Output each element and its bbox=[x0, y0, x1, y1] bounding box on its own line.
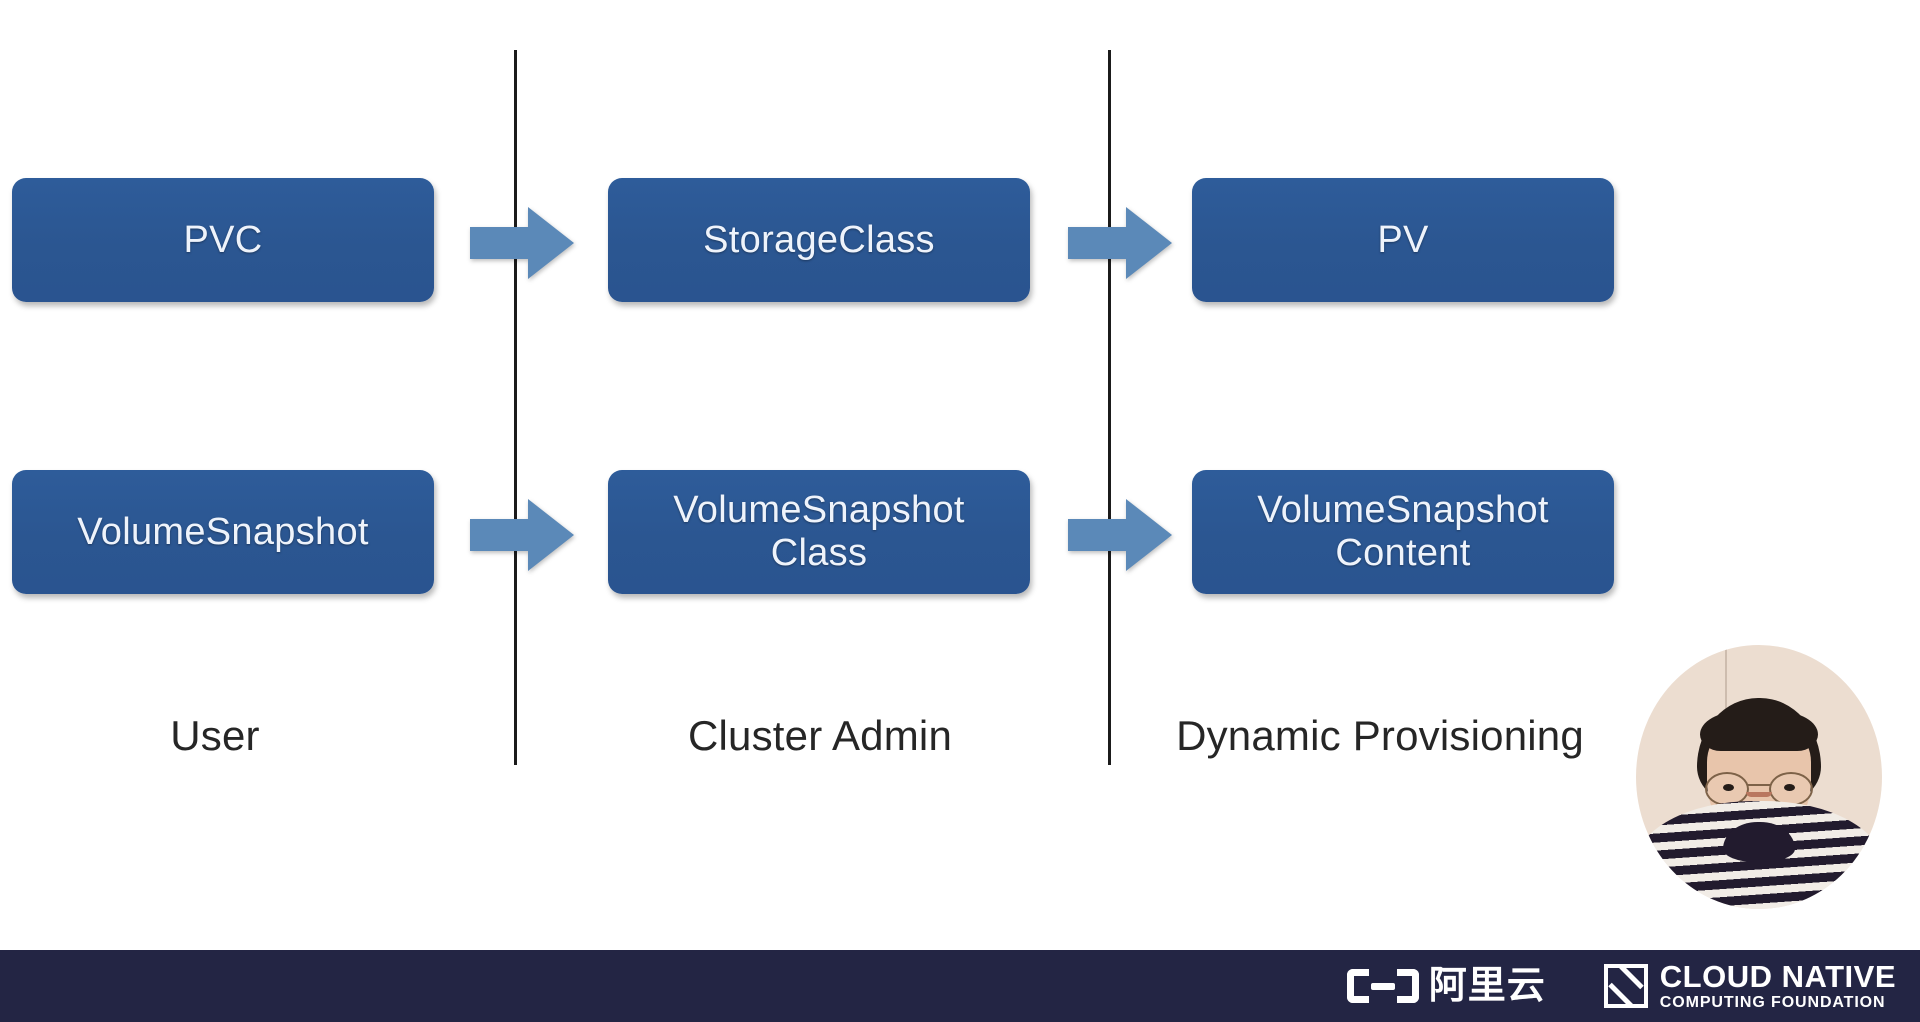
avatar-eye-left bbox=[1723, 784, 1734, 791]
avatar-fringe bbox=[1700, 711, 1818, 751]
cncf-wordmark-line2: COMPUTING FOUNDATION bbox=[1660, 995, 1896, 1011]
node-pvc: PVC bbox=[12, 178, 434, 302]
alibaba-bracket-left bbox=[1347, 969, 1369, 1003]
presentation-slide: PVC StorageClass PV VolumeSnapshot Volum… bbox=[0, 0, 1920, 1022]
avatar-glasses-bridge bbox=[1747, 784, 1771, 787]
node-storageclass: StorageClass bbox=[608, 178, 1030, 302]
avatar-mouth bbox=[1746, 792, 1772, 797]
node-volumesnapshotclass: VolumeSnapshot Class bbox=[608, 470, 1030, 594]
lane-caption-dynamic-provisioning: Dynamic Provisioning bbox=[1130, 712, 1630, 760]
lane-caption-cluster-admin: Cluster Admin bbox=[600, 712, 1040, 760]
node-volumesnapshotcontent: VolumeSnapshot Content bbox=[1192, 470, 1614, 594]
cncf-mark-icon bbox=[1604, 964, 1648, 1008]
alibaba-cloud-logo: 阿里云 bbox=[1347, 967, 1546, 1005]
cncf-logo: CLOUD NATIVE COMPUTING FOUNDATION bbox=[1604, 961, 1896, 1011]
avatar-eye-right bbox=[1784, 784, 1795, 791]
alibaba-dash bbox=[1371, 983, 1395, 990]
node-pv: PV bbox=[1192, 178, 1614, 302]
node-volumesnapshot: VolumeSnapshot bbox=[12, 470, 434, 594]
footer-branding-bar: 阿里云 CLOUD NATIVE COMPUTING FOUNDATION bbox=[0, 950, 1920, 1022]
arrow-volumesnapshot-to-volumesnapshotclass-icon bbox=[470, 497, 574, 573]
alibaba-bracket-right bbox=[1397, 969, 1419, 1003]
arrow-storageclass-to-pv-icon bbox=[1068, 205, 1172, 281]
swimlane-divider-user-admin bbox=[514, 50, 517, 765]
alibaba-cloud-mark-icon bbox=[1347, 969, 1419, 1003]
arrow-volumesnapshotclass-to-volumesnapshotcontent-icon bbox=[1068, 497, 1172, 573]
alibaba-cloud-wordmark: 阿里云 bbox=[1429, 967, 1546, 1005]
arrow-pvc-to-storageclass-icon bbox=[470, 205, 574, 281]
speaker-video-avatar bbox=[1636, 645, 1882, 909]
cncf-wordmark: CLOUD NATIVE COMPUTING FOUNDATION bbox=[1660, 961, 1896, 1011]
swimlane-divider-admin-dynamic bbox=[1108, 50, 1111, 765]
lane-caption-user: User bbox=[0, 712, 430, 760]
avatar-glasses-icon bbox=[1703, 772, 1815, 802]
cncf-wordmark-line1: CLOUD NATIVE bbox=[1660, 961, 1896, 992]
